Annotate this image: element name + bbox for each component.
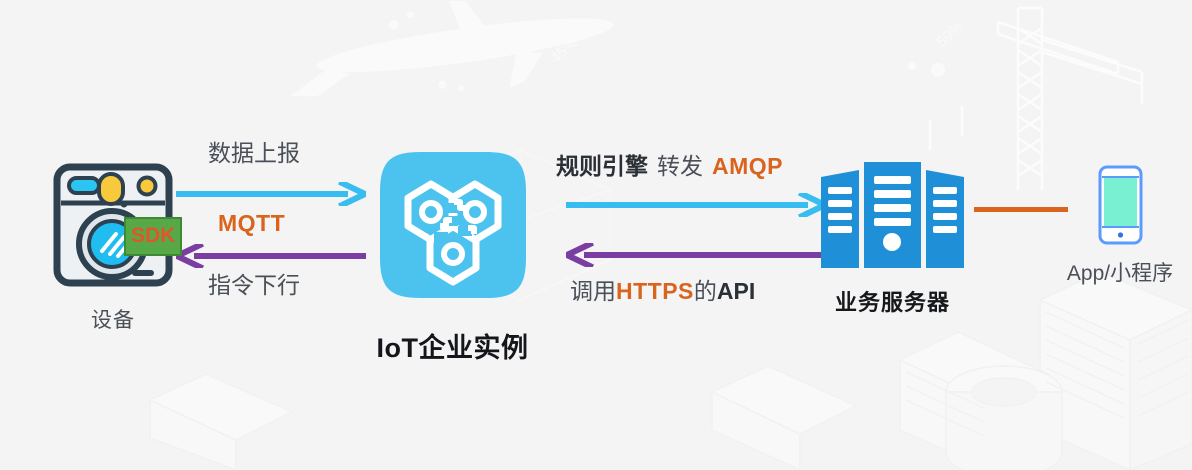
label-protocol-amqp: AMQP: [712, 155, 783, 178]
label-row-https-api: 调用 HTTPS 的 API: [570, 280, 755, 303]
link-device-iot: 数据上报 MQTT 指令下行: [176, 140, 366, 300]
label-api: API: [717, 280, 755, 303]
label-downlink-command: 指令下行: [208, 274, 300, 297]
mobile-phone-icon: [1055, 165, 1185, 247]
arrow-uplink-device-to-iot: [176, 182, 366, 206]
node-app: App/小程序: [1055, 165, 1185, 287]
server-rack-icon: [815, 160, 970, 275]
iot-instance-caption: IoT企业实例: [360, 326, 545, 365]
label-uplink-data-report: 数据上报: [208, 142, 300, 165]
node-device: SDK 设备: [48, 160, 178, 334]
sdk-badge: SDK: [124, 217, 182, 256]
label-protocol-mqtt: MQTT: [218, 212, 285, 235]
label-possessive: 的: [694, 280, 717, 303]
label-forward: 转发: [657, 155, 703, 178]
node-iot-instance: IoT企业实例: [360, 140, 545, 365]
label-protocol-https: HTTPS: [616, 280, 694, 303]
app-caption: App/小程序: [1055, 257, 1185, 287]
label-rule-engine: 规则引擎: [556, 155, 648, 178]
iot-hexagon-icon: [368, 140, 538, 310]
business-server-caption: 业务服务器: [815, 285, 970, 317]
diagram-stage: SDK 设备 数据上报 MQTT 指令下行: [0, 0, 1192, 470]
link-iot-server: 规则引擎 转发 AMQP 调用 HTTPS 的 API: [556, 155, 816, 305]
arrow-downlink-server-to-iot: [566, 243, 826, 267]
node-business-server: 业务服务器: [815, 160, 970, 317]
label-row-rule-engine: 规则引擎 转发 AMQP: [556, 155, 783, 178]
device-caption: 设备: [48, 304, 178, 334]
connector-server-to-app: [974, 207, 1068, 212]
arrow-downlink-iot-to-device: [176, 244, 366, 268]
arrow-uplink-iot-to-server: [566, 193, 826, 217]
label-invoke: 调用: [570, 280, 616, 303]
